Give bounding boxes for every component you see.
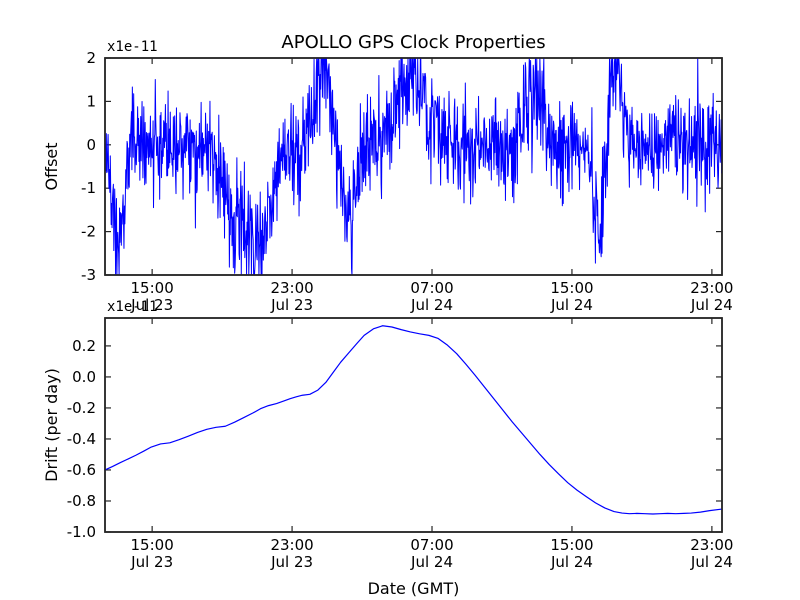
matplotlib-figure: 210-1-2-315:00Jul 2323:00Jul 2307:00Jul …: [0, 0, 800, 600]
x-tick-label-date: Jul 24: [410, 553, 453, 571]
y-tick-label: -3: [81, 266, 96, 284]
x-tick-label-time: 23:00: [270, 536, 313, 554]
y-tick-label: 0: [86, 136, 96, 154]
plot-title: APOLLO GPS Clock Properties: [281, 32, 545, 53]
x-tick-label-time: 23:00: [690, 536, 733, 554]
x-tick-label-date: Jul 23: [270, 296, 313, 314]
x-tick-label-time: 15:00: [550, 279, 593, 297]
y-axis-title: Drift (per day): [42, 368, 61, 482]
y-tick-label: -0.4: [67, 430, 96, 448]
y-tick-label: 2: [86, 49, 96, 67]
x-tick-label-date: Jul 24: [690, 296, 733, 314]
x-tick-label-date: Jul 24: [550, 553, 593, 571]
y-tick-label: -2: [81, 223, 96, 241]
drift-plot: 0.20.0-0.2-0.4-0.6-0.8-1.015:00Jul 2323:…: [42, 299, 733, 598]
y-tick-label: -0.6: [67, 461, 96, 479]
x-tick-label-time: 23:00: [270, 279, 313, 297]
y-axis-exponent-label: x1e-11: [107, 299, 158, 315]
y-tick-label: -0.2: [67, 399, 96, 417]
x-tick-label-time: 15:00: [131, 279, 174, 297]
x-tick-label-date: Jul 23: [130, 553, 173, 571]
x-tick-label-date: Jul 23: [270, 553, 313, 571]
y-tick-label: -1.0: [67, 523, 96, 541]
x-tick-label-date: Jul 24: [550, 296, 593, 314]
y-tick-label: -1: [81, 179, 96, 197]
x-tick-label-time: 07:00: [410, 536, 453, 554]
offset-plot: 210-1-2-315:00Jul 2323:00Jul 2307:00Jul …: [42, 32, 733, 314]
y-tick-label: -0.8: [67, 492, 96, 510]
x-tick-label-date: Jul 24: [410, 296, 453, 314]
x-tick-label-date: Jul 24: [690, 553, 733, 571]
figure-canvas: 210-1-2-315:00Jul 2323:00Jul 2307:00Jul …: [0, 0, 800, 600]
x-axis-title: Date (GMT): [368, 579, 460, 598]
y-tick-label: 0.0: [72, 368, 96, 386]
y-tick-label: 0.2: [72, 337, 96, 355]
x-tick-label-time: 23:00: [690, 279, 733, 297]
x-tick-label-time: 15:00: [550, 536, 593, 554]
y-axis-exponent-label: x1e-11: [107, 39, 158, 55]
x-tick-label-time: 07:00: [410, 279, 453, 297]
y-tick-label: 1: [86, 92, 96, 110]
x-tick-label-time: 15:00: [131, 536, 174, 554]
plot-frame: [105, 318, 722, 532]
y-axis-title: Offset: [42, 142, 61, 190]
